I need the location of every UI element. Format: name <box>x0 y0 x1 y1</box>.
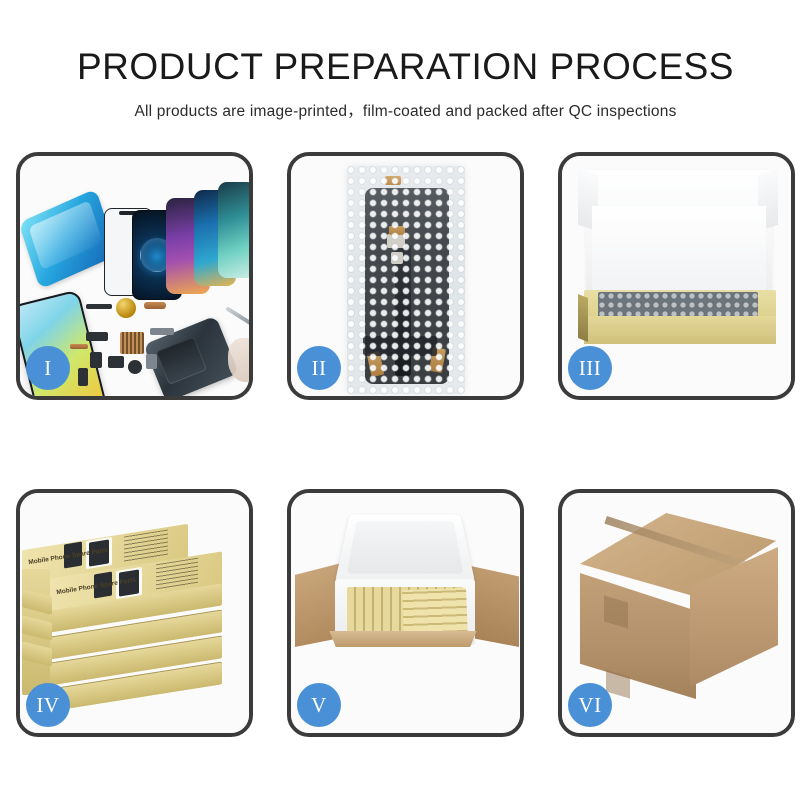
carton-body <box>329 635 477 727</box>
product-preparation-infographic: PRODUCT PREPARATION PROCESS All products… <box>0 0 811 811</box>
page-subtitle: All products are image-printed，film-coat… <box>0 99 811 121</box>
small-part <box>70 344 88 349</box>
foam-sheet <box>592 206 766 292</box>
step-badge-2: II <box>297 346 341 390</box>
small-part <box>108 356 124 368</box>
small-part <box>90 352 102 368</box>
connector-chip <box>120 332 144 354</box>
small-part <box>128 360 142 374</box>
small-part <box>86 304 112 309</box>
step-badge-3: III <box>568 346 612 390</box>
foam-box-lid <box>335 514 476 583</box>
bubble-wrap-bag <box>347 166 465 394</box>
blue-screen-film <box>20 189 117 290</box>
step-badge-4: IV <box>26 683 70 727</box>
step-badge-1: I <box>26 346 70 390</box>
page-title: PRODUCT PREPARATION PROCESS <box>0 48 811 87</box>
bubble-texture <box>347 166 465 394</box>
small-part <box>144 302 166 309</box>
step-panel-2: II <box>287 152 524 400</box>
speaker-module-icon <box>116 298 136 318</box>
kraft-tray-front <box>584 316 776 344</box>
small-part <box>86 332 108 341</box>
step-panel-4: Mobile Phone Spare Parts Mobile Phone Sp… <box>16 489 253 737</box>
step-panel-3: III <box>558 152 795 400</box>
kraft-tray-end <box>578 294 588 342</box>
header: PRODUCT PREPARATION PROCESS All products… <box>0 0 811 121</box>
carton-left-face <box>580 573 696 699</box>
step-panel-5: V <box>287 489 524 737</box>
steps-grid: I II <box>16 152 795 737</box>
step-panel-6: VI <box>558 489 795 737</box>
step-badge-6: VI <box>568 683 612 727</box>
step-panel-1: I <box>16 152 253 400</box>
small-part <box>150 328 174 335</box>
small-part <box>146 354 157 369</box>
teal-gradient-phone <box>218 182 249 278</box>
tweezers-icon <box>225 306 249 325</box>
step-badge-5: V <box>297 683 341 727</box>
small-part <box>78 368 88 386</box>
